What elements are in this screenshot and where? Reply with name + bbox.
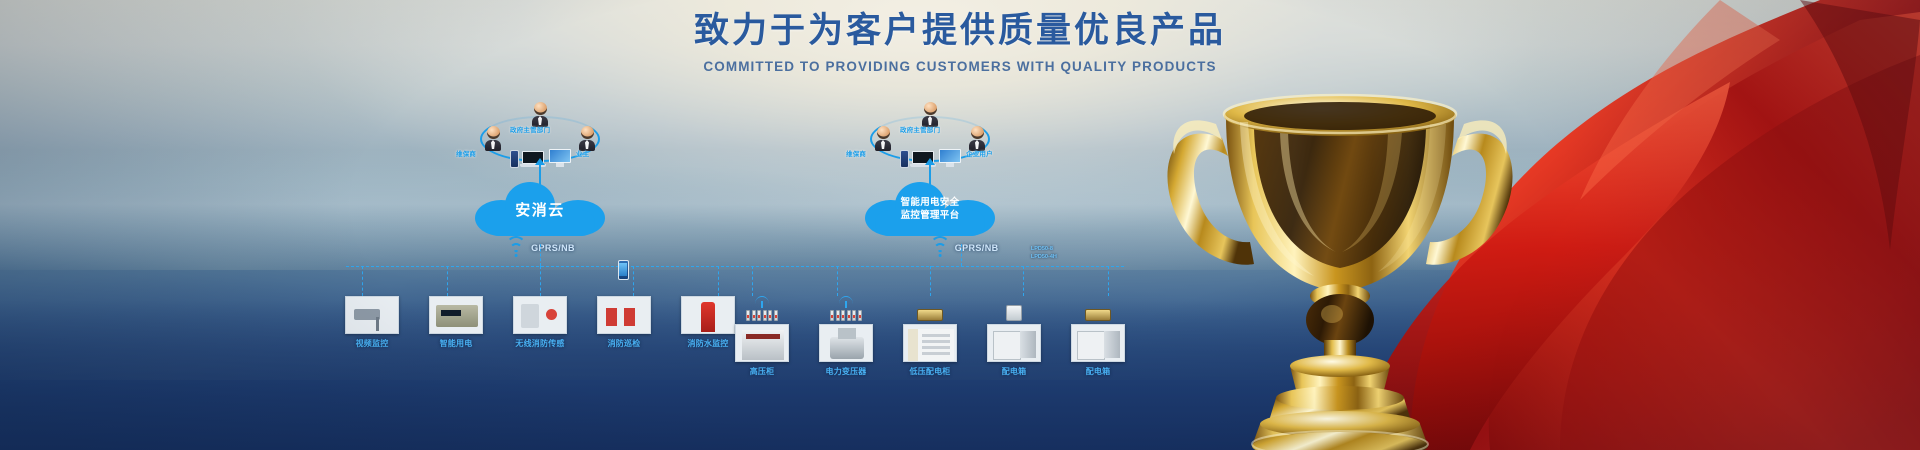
high-voltage-cabinet-icon [735,324,789,362]
wifi-icon [505,240,527,256]
smartphone-icon [900,150,909,168]
terminal-item: 电力变压器 [814,296,878,377]
breaker-cluster-icon [814,310,878,321]
diagram-power-safety-platform: 维保商 政府主管部门 企业用户 智能用电安全 监控管理平台 [720,90,1140,410]
terminal-label: 低压配电柜 [898,366,962,377]
person-head-icon [877,126,890,139]
module-note: LPD50-4H [1031,254,1057,260]
person-head-icon [534,102,547,115]
actor-ring: 维保商 政府主管部门 业主 [480,100,600,162]
fire-inspection-icon [597,296,651,334]
terminal-label: 无线消防传感 [508,338,572,349]
person-head-icon [487,126,500,139]
terminal-item: 配电箱 [982,305,1046,377]
desktop-monitor-icon [939,149,961,168]
terminal-item: 高压柜 [730,296,794,377]
smartphone-icon [510,150,519,168]
actor-label-maintenance: 维保商 [846,148,866,158]
terminal-label: 视频监控 [340,338,404,349]
distribution-box-icon [1071,324,1125,362]
actor-maintenance [482,126,504,151]
terminal-row: 视频监控 智能用电 无线消防传感 消防巡检 消防水监控 [330,296,750,349]
module-note: LPD50-8 [1031,246,1053,252]
distribution-box-icon [987,324,1041,362]
headline-english: COMMITTED TO PROVIDING CUSTOMERS WITH QU… [0,58,1920,76]
terminal-item: 配电箱 [1066,309,1130,377]
terminal-row: 高压柜 电力变压器 低压配电柜 配电箱 [720,296,1140,377]
link-label: GPRS/NB [531,243,575,253]
smart-power-icon [429,296,483,334]
terminal-item: 消防巡检 [592,296,656,349]
headline-chinese: 致力于为客户提供质量优良产品 [0,8,1920,54]
actor-label-enterprise-user: 企业用户 [966,148,993,158]
gateway-module-icon [1006,305,1022,321]
wifi-icon [929,240,951,256]
platform-name-line2: 监控管理平台 [901,209,960,222]
person-body-icon [485,140,501,151]
terminal-label: 消防巡检 [592,338,656,349]
actor-maintenance [872,126,894,151]
platform-name-line1: 智能用电安全 [901,196,960,209]
wireless-fire-sensor-icon [513,296,567,334]
actor-label-government: 政府主管部门 [900,124,940,134]
person-head-icon [924,102,937,115]
device-bus [346,266,734,300]
power-transformer-icon [819,324,873,362]
person-body-icon [875,140,891,151]
platform-name: 安消云 [515,199,565,220]
terminal-label: 电力变压器 [814,366,878,377]
platform-cloud: 安消云 [475,182,605,236]
video-surveillance-icon [345,296,399,334]
mobile-node-icon [618,260,629,280]
link-gprs: GPRS/NB [929,240,999,256]
terminal-label: 高压柜 [730,366,794,377]
terminal-label: 配电箱 [982,366,1046,377]
gold-trophy [1130,20,1550,450]
actor-label-government: 政府主管部门 [510,124,550,134]
monitoring-module-icon [917,309,943,321]
terminal-item: 智能用电 [424,296,488,349]
device-bus: LPD50-8 LPD50-4H [736,266,1124,300]
hero-banner: 致力于为客户提供质量优良产品 COMMITTED TO PROVIDING CU… [0,0,1920,450]
actor-ring: 维保商 政府主管部门 企业用户 [870,100,990,162]
terminal-label: 配电箱 [1066,366,1130,377]
desktop-monitor-icon [549,149,571,168]
low-voltage-cabinet-icon [903,324,957,362]
terminal-item: 低压配电柜 [898,309,962,377]
monitoring-module-icon [1085,309,1111,321]
actor-label-maintenance: 维保商 [456,148,476,158]
breaker-cluster-icon [730,310,794,321]
terminal-item: 无线消防传感 [508,296,572,349]
person-head-icon [581,126,594,139]
terminal-item: 视频监控 [340,296,404,349]
banner-headline: 致力于为客户提供质量优良产品 COMMITTED TO PROVIDING CU… [0,8,1920,76]
diagram-anxiaoyun: 维保商 政府主管部门 业主 安消云 [330,90,750,410]
current-transformer-icon [839,296,853,308]
actor-label-owner: 业主 [576,148,589,158]
current-transformer-icon [755,296,769,308]
platform-cloud: 智能用电安全 监控管理平台 [865,182,995,236]
terminal-label: 智能用电 [424,338,488,349]
person-head-icon [971,126,984,139]
